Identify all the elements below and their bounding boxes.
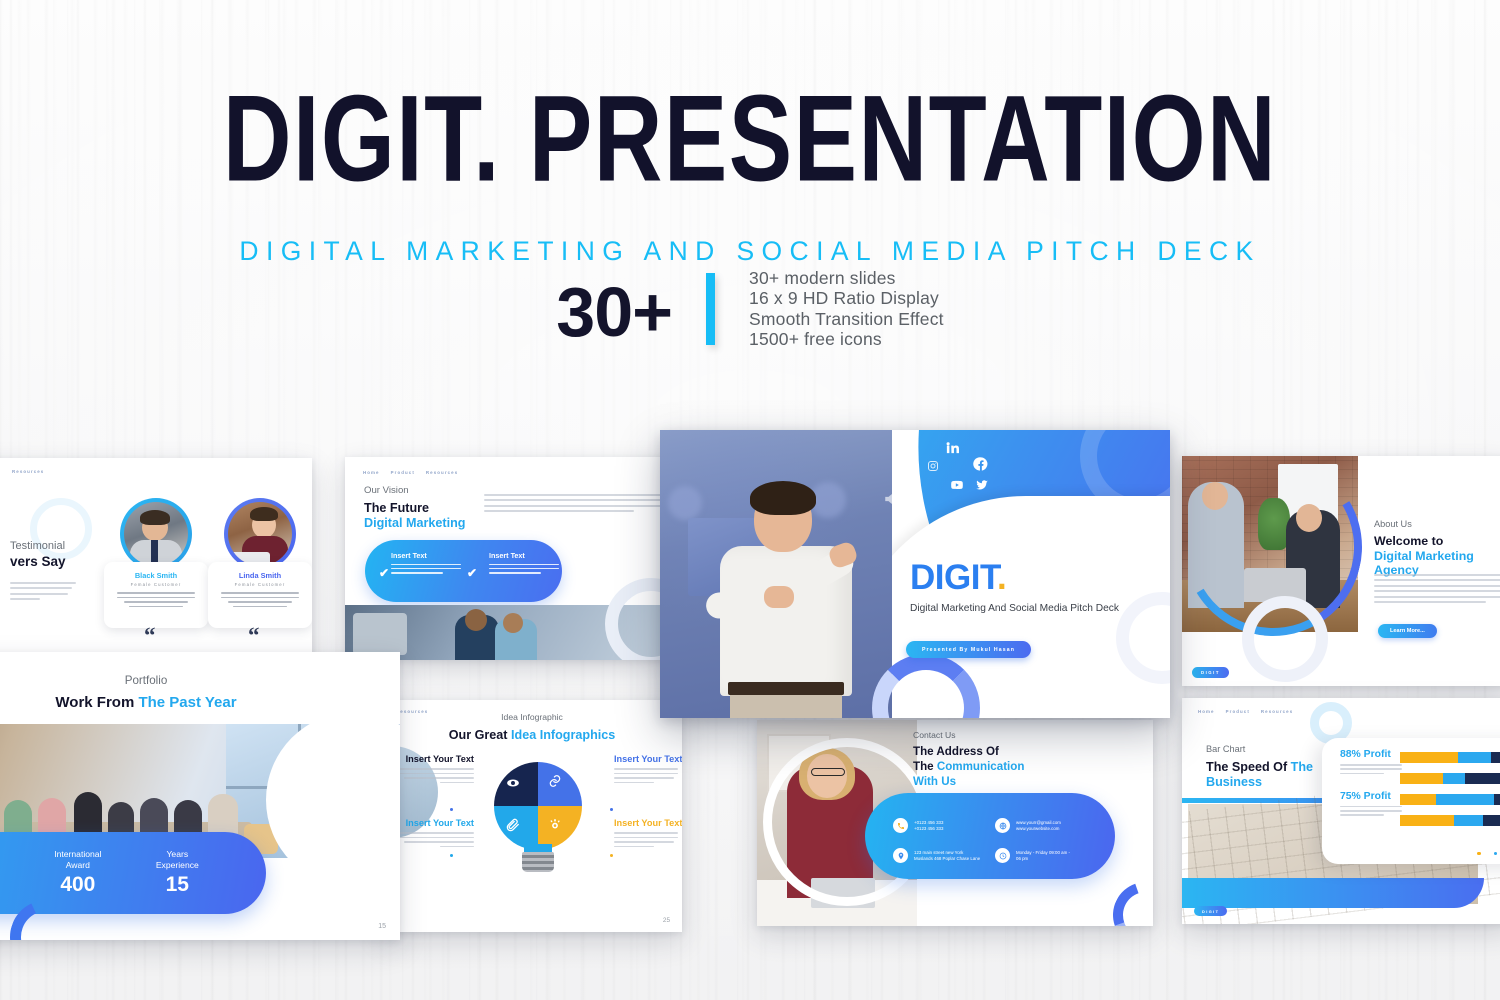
contact-line: Monday - Friday 09:00 am - <box>1016 850 1070 855</box>
decor-ring <box>1242 596 1328 682</box>
slide-idea-infographic[interactable]: Resources Idea Infographic Our Great Ide… <box>382 700 682 932</box>
slide-body-text <box>1374 574 1500 606</box>
slide-title-line1: The Address Of <box>913 745 999 758</box>
hero-tagline: Digital Marketing And Social Media Pitch… <box>910 602 1128 615</box>
check-icon: ✔ <box>379 566 389 580</box>
eye-icon <box>506 776 520 790</box>
hero-brand-dot: . <box>997 558 1006 597</box>
connector-dot <box>610 854 613 857</box>
contact-item-web[interactable]: www.yourr@gmail.comwww.yourwebsite.com <box>995 818 1061 833</box>
contact-text: Monday - Friday 09:00 am -06 pm <box>1016 848 1070 862</box>
person-role: Female Customer <box>208 582 312 587</box>
slide-kicker: Testimonial <box>10 540 65 552</box>
decor-ring <box>1102 871 1153 926</box>
feature-item: 1500+ free icons <box>749 329 944 349</box>
label-body <box>396 768 474 786</box>
vision-feature-pill: ✔ ✔ Insert Text Insert Text <box>365 540 562 602</box>
contact-text: +0123 456 333+0123 456 333 <box>914 818 943 832</box>
globe-icon <box>995 818 1010 833</box>
testimonial-quote <box>117 592 195 610</box>
link-icon <box>548 774 562 788</box>
person-name: Black Smith <box>104 571 208 580</box>
slide-title-line2: The Communication <box>913 760 1024 773</box>
testimonial-card[interactable]: Linda Smith Female Customer <box>208 562 312 628</box>
block-body <box>489 564 559 577</box>
slide-bar-chart[interactable]: Home Product Resources Bar Chart The Spe… <box>1182 698 1500 924</box>
slide-title-dark: Our Great <box>449 728 511 742</box>
stacked-bar-chart <box>1400 752 1500 836</box>
slide-contact[interactable]: Contact Us The Address Of The Communicat… <box>757 720 1153 926</box>
slide-kicker: Our Vision <box>364 485 409 496</box>
slide-nav: Resources <box>12 469 44 474</box>
stat-label-line1: International <box>54 849 101 859</box>
highlights-row: 30+ 30+ modern slides 16 x 9 HD Ratio Di… <box>0 268 1500 350</box>
contact-line: 123 main street new York <box>914 850 963 855</box>
person-name: Linda Smith <box>208 571 312 580</box>
bar-row <box>1400 794 1500 805</box>
slide-count: 30+ <box>556 277 706 347</box>
slide-kicker: Contact Us <box>913 730 956 740</box>
contact-line: Muslands 468 Poplar Chase Lane <box>914 856 980 861</box>
slide-portfolio[interactable]: Portfolio Work From The Past Year Comple… <box>0 652 400 940</box>
paperclip-icon <box>506 818 520 832</box>
page-number: 25 <box>663 917 670 924</box>
person-role: Female Customer <box>104 582 208 587</box>
slide-about[interactable]: About Us Welcome to Digital Marketing Ag… <box>1182 456 1500 686</box>
slide-title: Our Great Idea Infographics <box>382 728 682 742</box>
stat-label-line2: Experience <box>156 860 199 870</box>
quote-icon: “ <box>144 624 156 647</box>
bar-row <box>1400 773 1500 784</box>
contact-item-address[interactable]: 123 main street new YorkMuslands 468 Pop… <box>893 848 980 863</box>
slide-title: Work From The Past Year <box>0 694 400 711</box>
stat-value: 15 <box>156 873 199 897</box>
vision-block: Insert Text <box>489 551 559 602</box>
stat-item: InternationalAward 400 <box>54 849 101 897</box>
stat-value: 400 <box>54 873 101 897</box>
gear-icon <box>548 818 562 832</box>
brand-badge: DIGIT <box>1192 667 1229 678</box>
twitter-icon <box>975 478 989 492</box>
testimonial-card[interactable]: Black Smith Female Customer <box>104 562 208 628</box>
presented-by-button[interactable]: Presented By Mukul Hasan <box>906 641 1031 658</box>
contact-line: www.yourwebsite.com <box>1016 826 1059 831</box>
location-icon <box>893 848 908 863</box>
chart-panel: 88% Profit 75% Profit <box>1322 738 1500 864</box>
block-heading: Insert Text <box>391 551 461 560</box>
brand-badge: DIGIT <box>1194 906 1227 916</box>
testimonial-quote <box>221 592 299 610</box>
nav-item-product[interactable]: Product <box>1226 709 1250 714</box>
page-title: DIGIT. PRESENTATION <box>8 78 1493 201</box>
learn-more-button[interactable]: Learn More... <box>1378 624 1437 638</box>
contact-line: 06 pm <box>1016 856 1028 861</box>
feature-list: 30+ modern slides 16 x 9 HD Ratio Displa… <box>749 268 944 350</box>
nav-item-product[interactable]: Product <box>391 470 415 475</box>
contact-text: www.yourr@gmail.comwww.yourwebsite.com <box>1016 818 1061 832</box>
title-dark-part: The <box>913 760 937 773</box>
slide-nav[interactable]: Home Product Resources <box>1198 709 1293 714</box>
stat-label-line2: Award <box>66 860 90 870</box>
contact-line: +0123 456 333 <box>914 820 943 825</box>
slide-title: The Speed Of The Business <box>1206 760 1314 790</box>
slide-kicker: About Us <box>1374 519 1412 529</box>
info-label: Insert Your Text <box>614 754 682 786</box>
megaphone-icon <box>882 486 908 512</box>
avatar <box>224 498 296 570</box>
page-subtitle: DIGITAL MARKETING AND SOCIAL MEDIA PITCH… <box>0 236 1500 267</box>
slide-nav[interactable]: Home Product Resources <box>363 470 458 475</box>
hero-photo <box>660 430 892 718</box>
contact-line: +0123 456 333 <box>914 826 943 831</box>
hero-brand-text: DIGIT <box>910 558 997 597</box>
slide-title-blue: Idea Infographics <box>511 728 615 742</box>
block-heading: Insert Text <box>489 551 559 560</box>
hero-brand: DIGIT. <box>910 558 1006 598</box>
vertical-divider <box>706 273 715 345</box>
youtube-icon <box>950 478 964 492</box>
stat-item: YearsExperience 15 <box>156 849 199 897</box>
instagram-icon <box>927 460 939 472</box>
pagination-dots[interactable] <box>1477 852 1500 855</box>
phone-icon <box>893 818 908 833</box>
bar-row <box>1400 752 1500 763</box>
slide-title-line3: With Us <box>913 775 956 788</box>
avatar <box>120 498 192 570</box>
label-heading: Insert Your Text <box>614 818 682 828</box>
slide-body-text <box>484 494 669 516</box>
stat-label-line1: Years <box>166 849 188 859</box>
slide-kicker: Idea Infographic <box>382 712 682 722</box>
dot-blue[interactable] <box>1494 852 1497 855</box>
title-blue-part: Communication <box>937 760 1025 773</box>
slide-title-dark: The Speed Of <box>1206 760 1291 774</box>
label-body <box>396 832 474 850</box>
info-label: Insert Your Text <box>396 818 474 850</box>
slide-title: vers Say <box>10 554 66 569</box>
nav-item-home[interactable]: Home <box>363 470 380 475</box>
accent-curve <box>1182 878 1484 908</box>
linkedin-icon <box>945 440 960 455</box>
check-icon: ✔ <box>467 566 477 580</box>
lightbulb-infographic <box>494 762 582 872</box>
facebook-icon <box>973 456 989 472</box>
clock-icon <box>995 848 1010 863</box>
slide-kicker: Portfolio <box>0 674 400 687</box>
nav-item: Resources <box>12 469 44 474</box>
profit-body <box>1340 806 1404 819</box>
contact-capsule <box>865 793 1115 879</box>
slide-title-dark: The Future <box>364 501 429 515</box>
connector-dot <box>450 808 453 811</box>
contact-text: 123 main street new YorkMuslands 468 Pop… <box>914 848 980 862</box>
label-body <box>614 832 682 850</box>
connector-dot <box>450 854 453 857</box>
feature-item: 30+ modern slides <box>749 268 944 288</box>
header: DIGIT. PRESENTATION DIGITAL MARKETING AN… <box>0 0 1500 267</box>
nav-item-resources[interactable]: Resources <box>1261 709 1293 714</box>
label-body <box>614 768 682 786</box>
info-label: Insert Your Text <box>614 818 682 850</box>
slide-title-blue: The Past Year <box>138 694 236 711</box>
profit-body <box>1340 764 1404 777</box>
slide-kicker: Bar Chart <box>1206 744 1245 754</box>
label-heading: Insert Your Text <box>614 754 682 764</box>
slide-testimonials[interactable]: Resources Testimonial vers Say Black Smi… <box>0 458 312 676</box>
slide-title-dark: Welcome to <box>1374 534 1443 548</box>
page-number: 15 <box>378 923 386 930</box>
slide-title-dark: Work From <box>55 694 138 711</box>
label-heading: Insert Your Text <box>396 754 474 764</box>
nav-item-resources[interactable]: Resources <box>426 470 458 475</box>
slide-body-text <box>10 582 76 604</box>
feature-item: Smooth Transition Effect <box>749 309 944 329</box>
slide-title-blue: Digital Marketing Agency <box>1374 549 1500 577</box>
nav-item-home[interactable]: Home <box>1198 709 1215 714</box>
presenter-figure <box>712 486 864 718</box>
quote-icon: “ <box>248 624 260 647</box>
dot-yellow[interactable] <box>1477 852 1480 855</box>
slide-hero[interactable]: DIGIT. Digital Marketing And Social Medi… <box>660 430 1170 718</box>
feature-item: 16 x 9 HD Ratio Display <box>749 288 944 308</box>
contact-item-phone[interactable]: +0123 456 333+0123 456 333 <box>893 818 943 833</box>
contact-item-hours[interactable]: Monday - Friday 09:00 am -06 pm <box>995 848 1070 863</box>
slide-title-blue: Digital Marketing <box>364 516 465 530</box>
connector-dot <box>610 808 613 811</box>
slide-vision[interactable]: Home Product Resources Our Vision The Fu… <box>345 457 675 660</box>
block-body <box>391 564 461 577</box>
vision-block: Insert Text <box>391 551 461 602</box>
contact-line: www.yourr@gmail.com <box>1016 820 1061 825</box>
info-label: Insert Your Text <box>396 754 474 786</box>
bar-row <box>1400 815 1500 826</box>
label-heading: Insert Your Text <box>396 818 474 828</box>
